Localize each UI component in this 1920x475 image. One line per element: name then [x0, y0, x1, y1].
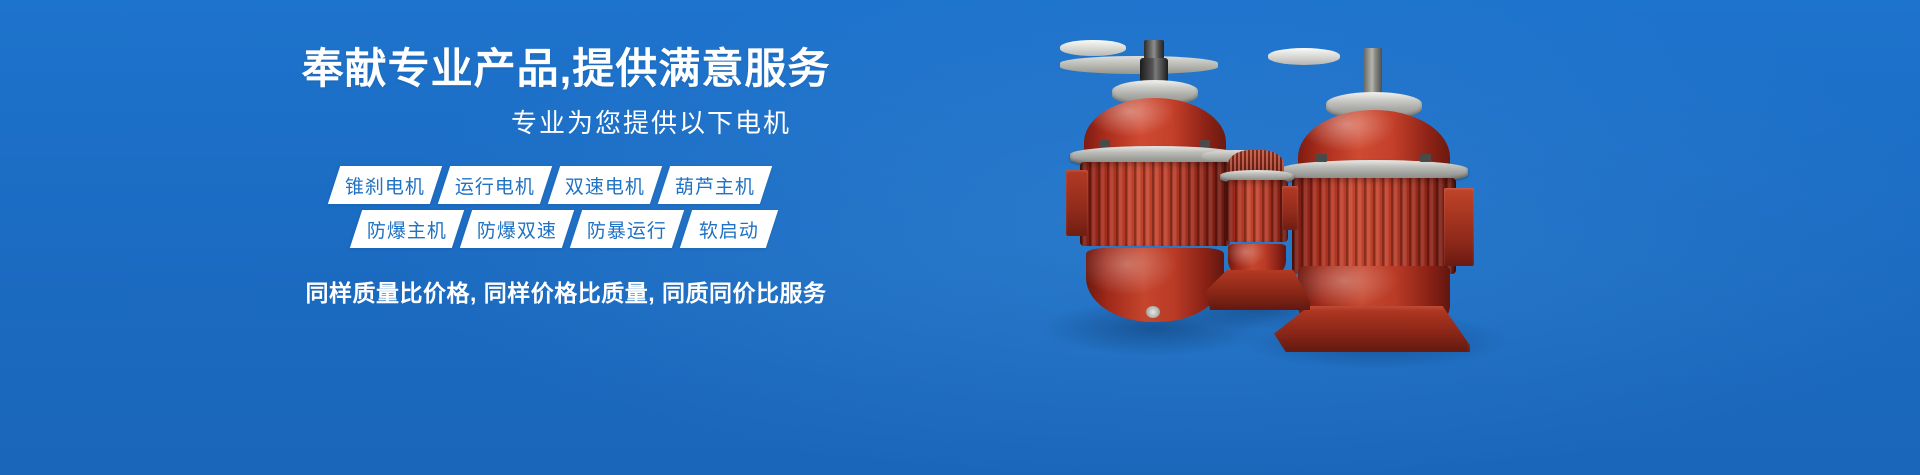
product-image-motor-small: [1202, 150, 1314, 318]
tag-chip-explosion-proof-travel[interactable]: 防暴运行: [570, 210, 684, 248]
tag-chip-travel-motor[interactable]: 运行电机: [438, 166, 552, 204]
tag-chip-hoist-main-motor[interactable]: 葫芦主机: [658, 166, 772, 204]
tag-label: 葫芦主机: [671, 172, 759, 199]
tag-label: 防暴运行: [583, 216, 671, 243]
tag-label: 锥刹电机: [341, 172, 429, 199]
motor-lower-ring: [1060, 56, 1218, 74]
banner-text-column: 奉献专业产品,提供满意服务 专业为您提供以下电机 锥刹电机 运行电机 双速电机 …: [296, 48, 836, 378]
tag-label: 运行电机: [451, 172, 539, 199]
tag-chip-soft-start[interactable]: 软启动: [680, 210, 778, 248]
tag-chip-explosion-proof-dual-speed[interactable]: 防爆双速: [460, 210, 574, 248]
tag-label: 双速电机: [561, 172, 649, 199]
motor-top-bearing: [1268, 48, 1340, 65]
tag-chip-explosion-proof-main[interactable]: 防爆主机: [350, 210, 464, 248]
tag-label: 软启动: [695, 216, 763, 243]
motor-finned-stator: [1292, 178, 1456, 274]
tag-chip-dual-speed-motor[interactable]: 双速电机: [548, 166, 662, 204]
tag-label: 防爆双速: [473, 216, 561, 243]
banner-headline: 奉献专业产品,提供满意服务: [296, 48, 836, 90]
motor-shaft: [1364, 48, 1382, 96]
motor-bolt: [1100, 140, 1110, 147]
product-tag-row-1: 锥刹电机 运行电机 双速电机 葫芦主机: [334, 166, 836, 204]
motor-top-bearing: [1060, 40, 1126, 56]
motor-terminal-box: [1066, 170, 1088, 236]
banner-tagline: 同样质量比价格, 同样价格比质量, 同质同价比服务: [296, 274, 836, 308]
tag-chip-cone-brake-motor[interactable]: 锥刹电机: [328, 166, 442, 204]
motor-terminal-box: [1282, 186, 1298, 230]
motor-nameplate-stud: [1146, 306, 1160, 318]
product-tag-row-2: 防爆主机 防爆双速 防暴运行 软启动: [334, 210, 836, 248]
tag-label: 防爆主机: [363, 216, 451, 243]
motor-terminal-box: [1444, 188, 1474, 266]
motor-bolt: [1316, 154, 1327, 162]
motor-foot-bracket: [1206, 270, 1310, 310]
motor-finned-stator: [1226, 180, 1288, 242]
banner-subtitle: 专业为您提供以下电机: [296, 110, 836, 136]
product-tag-group: 锥刹电机 运行电机 双速电机 葫芦主机 防爆主机 防爆双速: [296, 166, 836, 248]
motor-bolt: [1200, 140, 1210, 147]
product-photo-group: [1050, 0, 1570, 475]
background-gradient: [0, 0, 1920, 475]
promo-banner: 奉献专业产品,提供满意服务 专业为您提供以下电机 锥刹电机 运行电机 双速电机 …: [0, 0, 1920, 475]
motor-bolt: [1420, 154, 1431, 162]
